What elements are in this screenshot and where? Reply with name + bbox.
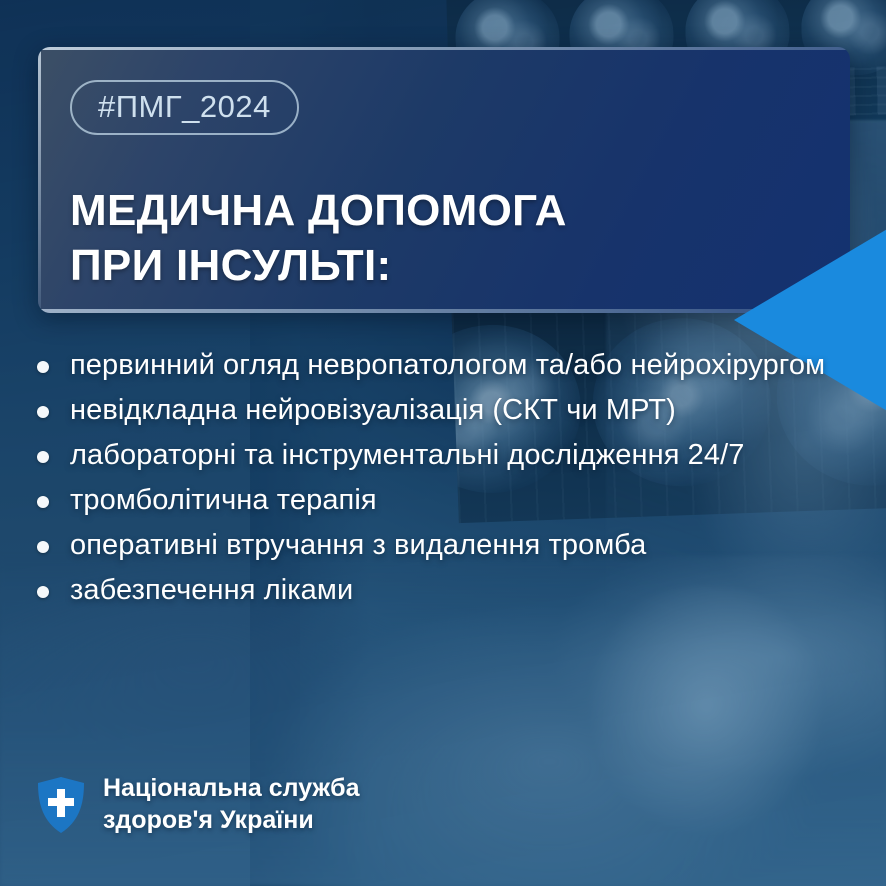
list-item: лабораторні та інструментальні досліджен… — [30, 439, 860, 473]
shield-cross-icon — [36, 776, 86, 834]
list-item: тромболітична терапія — [30, 484, 860, 518]
service-list: первинний огляд невропатологом та/або не… — [30, 349, 860, 619]
list-item: забезпечення ліками — [30, 574, 860, 608]
organization-logo: Національна служба здоров'я України — [36, 773, 359, 836]
title-card: #ПМГ_2024 МЕДИЧНА ДОПОМОГА ПРИ ІНСУЛЬТІ: — [38, 47, 850, 313]
organization-name: Національна служба здоров'я України — [103, 773, 359, 836]
list-item: оперативні втручання з видалення тромба — [30, 529, 860, 563]
card-bottom-edge — [38, 309, 850, 313]
list-item: первинний огляд невропатологом та/або не… — [30, 349, 860, 383]
list-item: невідкладна нейровізуалізація (СКТ чи МР… — [30, 394, 860, 428]
hashtag-badge: #ПМГ_2024 — [70, 80, 299, 135]
poster-root: #ПМГ_2024 МЕДИЧНА ДОПОМОГА ПРИ ІНСУЛЬТІ:… — [0, 0, 886, 886]
page-title: МЕДИЧНА ДОПОМОГА ПРИ ІНСУЛЬТІ: — [70, 184, 567, 293]
